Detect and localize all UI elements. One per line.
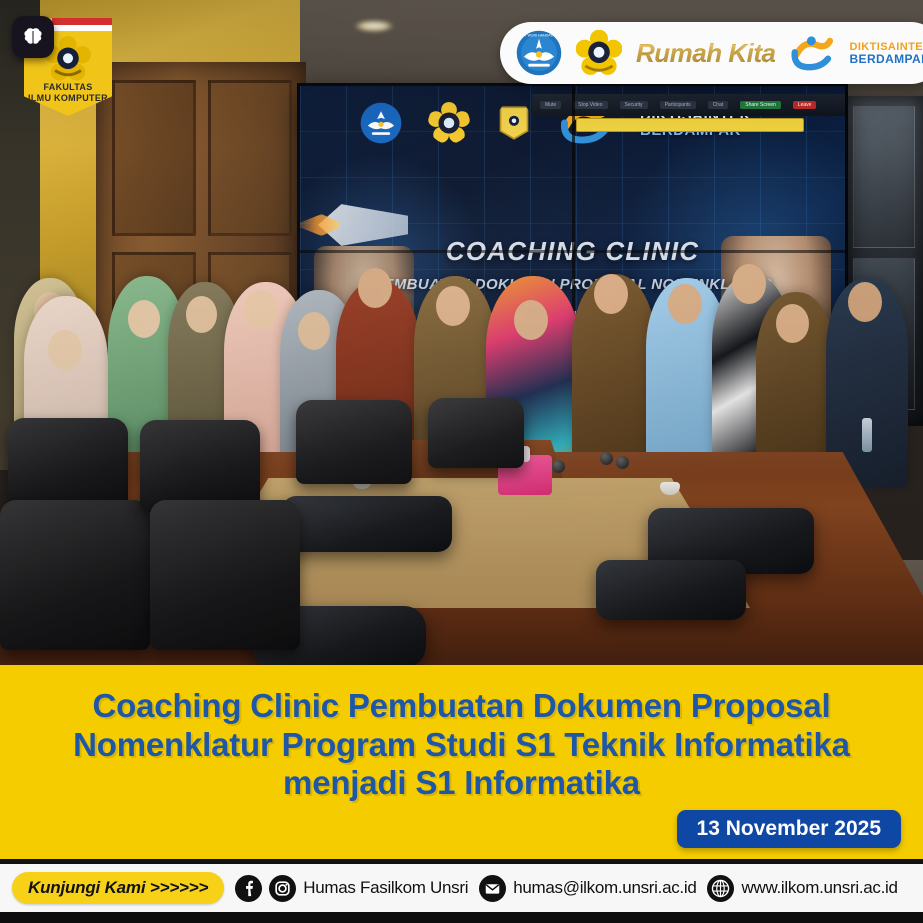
person-head: [776, 304, 809, 343]
zoom-toolbar-item: Share Screen: [740, 101, 781, 109]
poster-canvas: DIKTISAINTEK BERDAMPAK COACHING CLINIC P…: [0, 0, 923, 923]
microphone: [616, 456, 629, 469]
person-head: [48, 330, 82, 370]
chair: [150, 500, 300, 650]
diktisaintek-wordmark: DIKTISAINTEK BERDAMPAK: [849, 42, 923, 65]
bag: [282, 496, 452, 552]
person-head: [244, 290, 278, 330]
zoom-toolbar-item: Participants: [660, 101, 696, 109]
screen-seam: [300, 250, 845, 253]
sriwijaya-shield-icon: [496, 101, 532, 145]
diktisaintek-figure-icon: [789, 33, 835, 73]
rumah-kita-wordmark: Rumah Kita: [636, 38, 775, 69]
social-handle-text: Humas Fasilkom Unsri: [303, 878, 468, 898]
zoom-toolbar-item: Chat: [708, 101, 729, 109]
unsri-seal-icon: [428, 102, 470, 144]
brain-glyph-icon: [21, 25, 45, 49]
diktisaintek-line2: BERDAMPAK: [849, 53, 923, 65]
chair: [0, 500, 150, 650]
door-panel: [208, 80, 292, 236]
facebook-icon[interactable]: [235, 875, 262, 902]
faculty-badge-line1: FAKULTAS: [24, 82, 112, 92]
social-contact[interactable]: Humas Fasilkom Unsri: [235, 875, 468, 902]
microphone: [600, 452, 613, 465]
chair: [428, 398, 524, 468]
chair: [140, 420, 260, 512]
contact-footer: Kunjungi Kami >>>>>> Humas Fasilkom Unsr…: [0, 864, 923, 912]
water-bottle: [862, 418, 872, 452]
event-photo: DIKTISAINTEK BERDAMPAK COACHING CLINIC P…: [0, 0, 923, 668]
person-head: [358, 268, 392, 308]
zoom-toolbar-item: Mute: [540, 101, 561, 109]
ceiling-light: [354, 20, 394, 32]
brain-icon[interactable]: [12, 16, 54, 58]
footer-bottom-divider: [0, 912, 923, 923]
zoom-toolbar-item: Security: [620, 101, 648, 109]
zoom-toolbar-item: Leave: [793, 101, 817, 109]
person-head: [298, 312, 330, 350]
chair: [296, 400, 412, 484]
tut-wuri-handayani-icon: [360, 102, 402, 144]
email-text: humas@ilkom.unsri.ac.id: [513, 878, 696, 898]
svg-text:TUT WURI HANDAYANI: TUT WURI HANDAYANI: [520, 33, 559, 37]
microphone: [552, 460, 565, 473]
person-head: [128, 300, 160, 338]
event-date-badge: 13 November 2025: [677, 810, 901, 848]
unsri-seal-icon: [576, 30, 622, 76]
globe-icon[interactable]: [707, 875, 734, 902]
zoom-toolbar-item: Stop Video: [573, 101, 607, 109]
laptop: [596, 560, 746, 620]
zoom-meeting-toolbar: Mute Stop Video Security Participants Ch…: [532, 94, 845, 116]
tut-wuri-handayani-icon: TUT WURI HANDAYANI: [516, 30, 562, 76]
person-head: [436, 286, 470, 326]
email-contact[interactable]: humas@ilkom.unsri.ac.id: [479, 875, 696, 902]
faculty-badge-line2: ILMU KOMPUTER: [24, 93, 112, 103]
instagram-icon[interactable]: [269, 875, 296, 902]
zoom-banner-strip: [576, 118, 804, 132]
person-head: [514, 300, 548, 340]
diktisaintek-line1: DIKTISAINTEK: [849, 42, 923, 53]
indonesia-flag-white-stripe: [52, 25, 112, 31]
page-title: Coaching Clinic Pembuatan Dokumen Propos…: [0, 665, 923, 803]
person-head: [848, 282, 882, 322]
email-icon[interactable]: [479, 875, 506, 902]
website-text: www.ilkom.unsri.ac.id: [741, 878, 897, 898]
person-head: [594, 274, 628, 314]
person-head: [668, 284, 702, 324]
window-pane: [853, 106, 915, 248]
visit-us-button[interactable]: Kunjungi Kami >>>>>>: [12, 872, 224, 904]
website-contact[interactable]: www.ilkom.unsri.ac.id: [707, 875, 897, 902]
partner-logo-banner: TUT WURI HANDAYANI Rumah Kita DIKTISAINT…: [500, 22, 923, 84]
indonesia-flag-icon: [52, 18, 112, 25]
door-panel: [112, 80, 196, 236]
person-head: [732, 264, 766, 304]
title-band: Coaching Clinic Pembuatan Dokumen Propos…: [0, 665, 923, 859]
person-head: [186, 296, 217, 333]
